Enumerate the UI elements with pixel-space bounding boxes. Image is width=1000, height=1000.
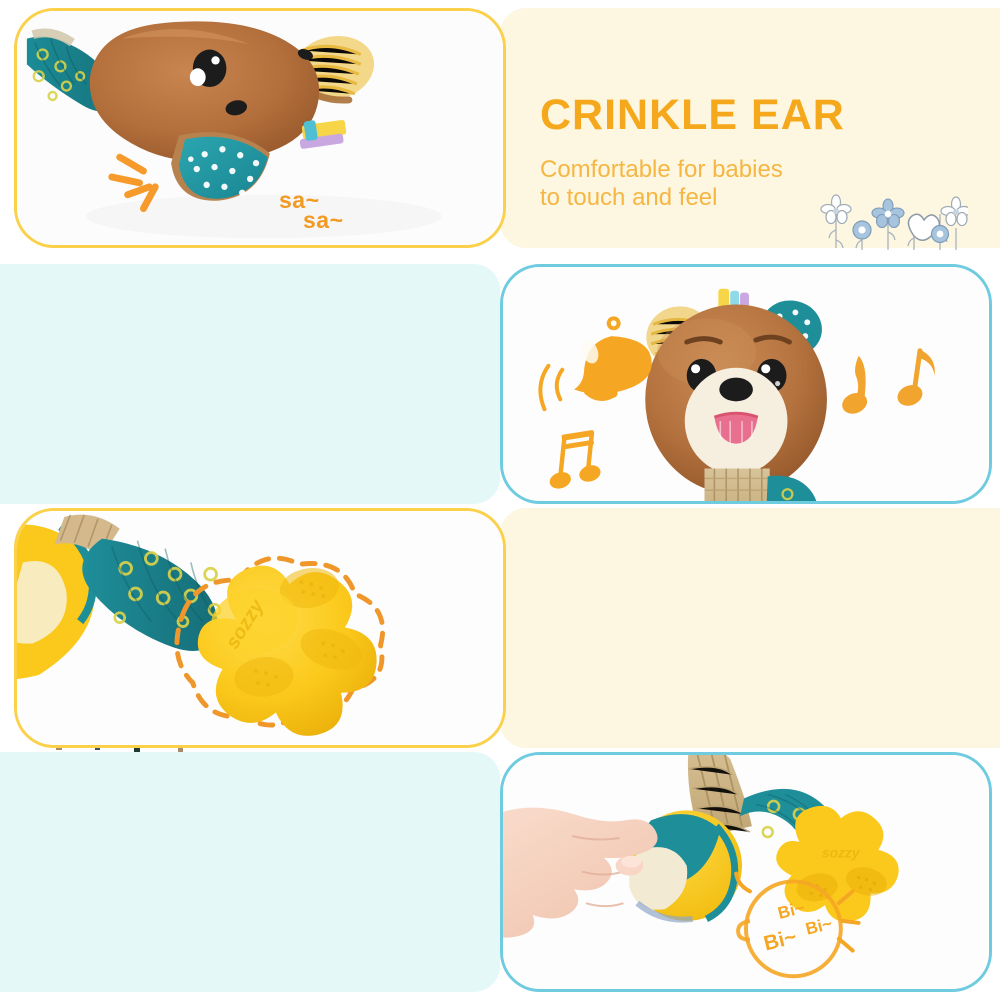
infographic-page: sa~ sa~ CRINKLE EAR Comfortable for babi… (0, 0, 1000, 1000)
photo-card-bell-sound (500, 264, 992, 504)
panel-desc-crinkle-ear: Comfortable for babies to touch and feel (540, 156, 783, 213)
panel-title-crinkle-ear: CRINKLE EAR (540, 94, 845, 137)
photo-card-bb-sound: sozzy (500, 752, 992, 992)
photo-bell-sound (503, 267, 989, 504)
panel-crinkle-ear: sa~ sa~ CRINKLE EAR Comfortable for babi… (0, 8, 1000, 248)
panel-teether: sozzy TEETHER Convenient for wearing and… (0, 508, 1000, 748)
text-band-teether (500, 508, 1000, 748)
desc-line-2: to touch and feel (540, 184, 783, 212)
panel-bell-sound: "BELL" SOUND Shake to make a Bell sound (0, 264, 1000, 504)
flower-white-2 (941, 197, 968, 226)
photo-teether: sozzy (17, 511, 503, 748)
brand-emboss-bb: sozzy (822, 845, 861, 861)
sound-effect-sa-2: sa~ (303, 207, 344, 234)
flower-blue-1 (853, 221, 871, 239)
bear-nose-front (719, 378, 753, 402)
photo-bb-sound: sozzy (503, 755, 989, 992)
panel-bb-sound: sozzy (0, 752, 1000, 992)
text-band-bell-sound (0, 264, 500, 504)
flowers-decor (818, 190, 968, 252)
photo-card-crinkle-ear: sa~ sa~ (14, 8, 506, 248)
woven-handle (704, 469, 769, 504)
desc-line-1: Comfortable for babies (540, 156, 783, 184)
photo-card-teether: sozzy (14, 508, 506, 748)
photo-crinkle-ear (17, 11, 503, 248)
flower-white-1 (821, 195, 851, 224)
flower-blue-3 (932, 226, 949, 243)
bear-head-front (645, 305, 827, 495)
text-band-bb-sound (0, 752, 500, 992)
